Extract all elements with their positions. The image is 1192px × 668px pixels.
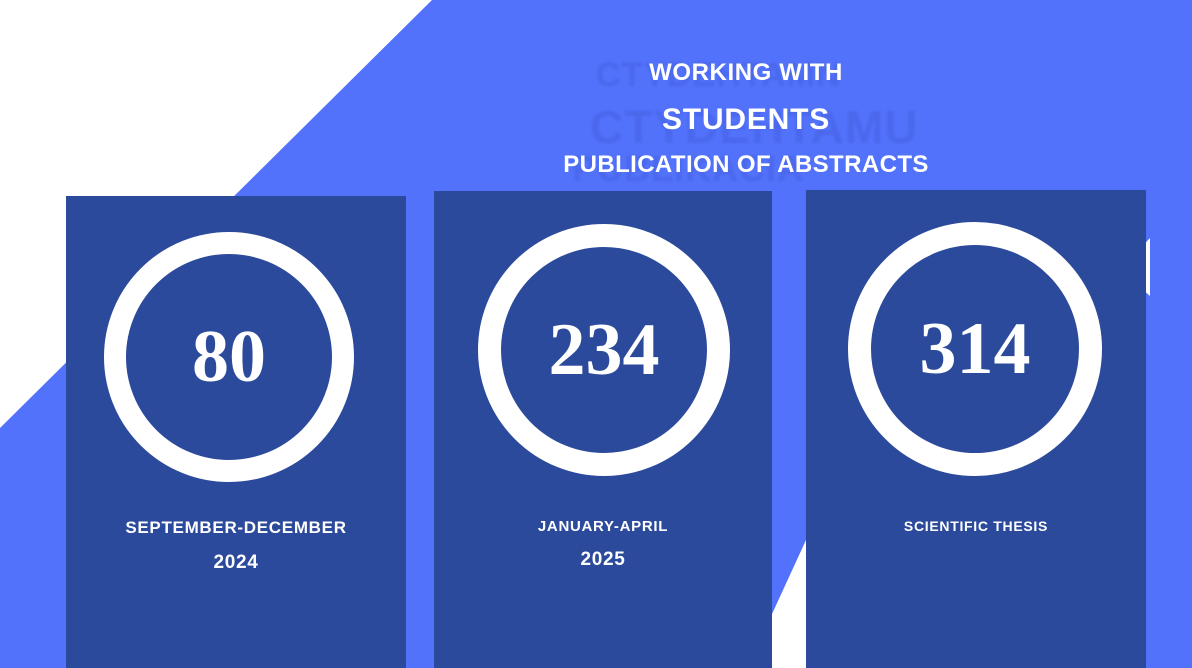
pillar-1-label: SEPTEMBER-DECEMBER xyxy=(66,518,406,538)
pillar-1-sublabel: 2024 xyxy=(66,552,406,574)
heading-line-students: STUDENTS xyxy=(430,100,1062,140)
heading-line-publication-of-abstracts: PUBLICATION OF ABSTRACTS xyxy=(430,150,1062,180)
stat-pillar-3: 314 SCIENTIFIC THESIS xyxy=(806,190,1146,668)
infographic-canvas: CTYDEHTAMN CTYDEHTAMU PUBLIKACIA CEHTABP… xyxy=(0,0,1192,668)
pillar-3-value: 314 xyxy=(871,245,1079,453)
pillar-2-sublabel: 2025 xyxy=(434,549,772,571)
pillar-1-value: 80 xyxy=(126,254,332,460)
pillar-2-ring: 234 xyxy=(478,224,730,476)
stat-pillar-1: 80 SEPTEMBER-DECEMBER 2024 xyxy=(66,196,406,668)
pillar-3-ring: 314 xyxy=(848,222,1102,476)
pillar-3-label: SCIENTIFIC THESIS xyxy=(806,518,1146,534)
pillar-1-ring: 80 xyxy=(104,232,354,482)
heading-block: WORKING WITH STUDENTS PUBLICATION OF ABS… xyxy=(430,58,1062,180)
pillar-2-value: 234 xyxy=(501,247,707,453)
heading-line-working-with: WORKING WITH xyxy=(430,58,1062,88)
stat-pillar-2: 234 JANUARY-APRIL 2025 xyxy=(434,191,772,668)
pillar-2-label: JANUARY-APRIL xyxy=(434,518,772,535)
